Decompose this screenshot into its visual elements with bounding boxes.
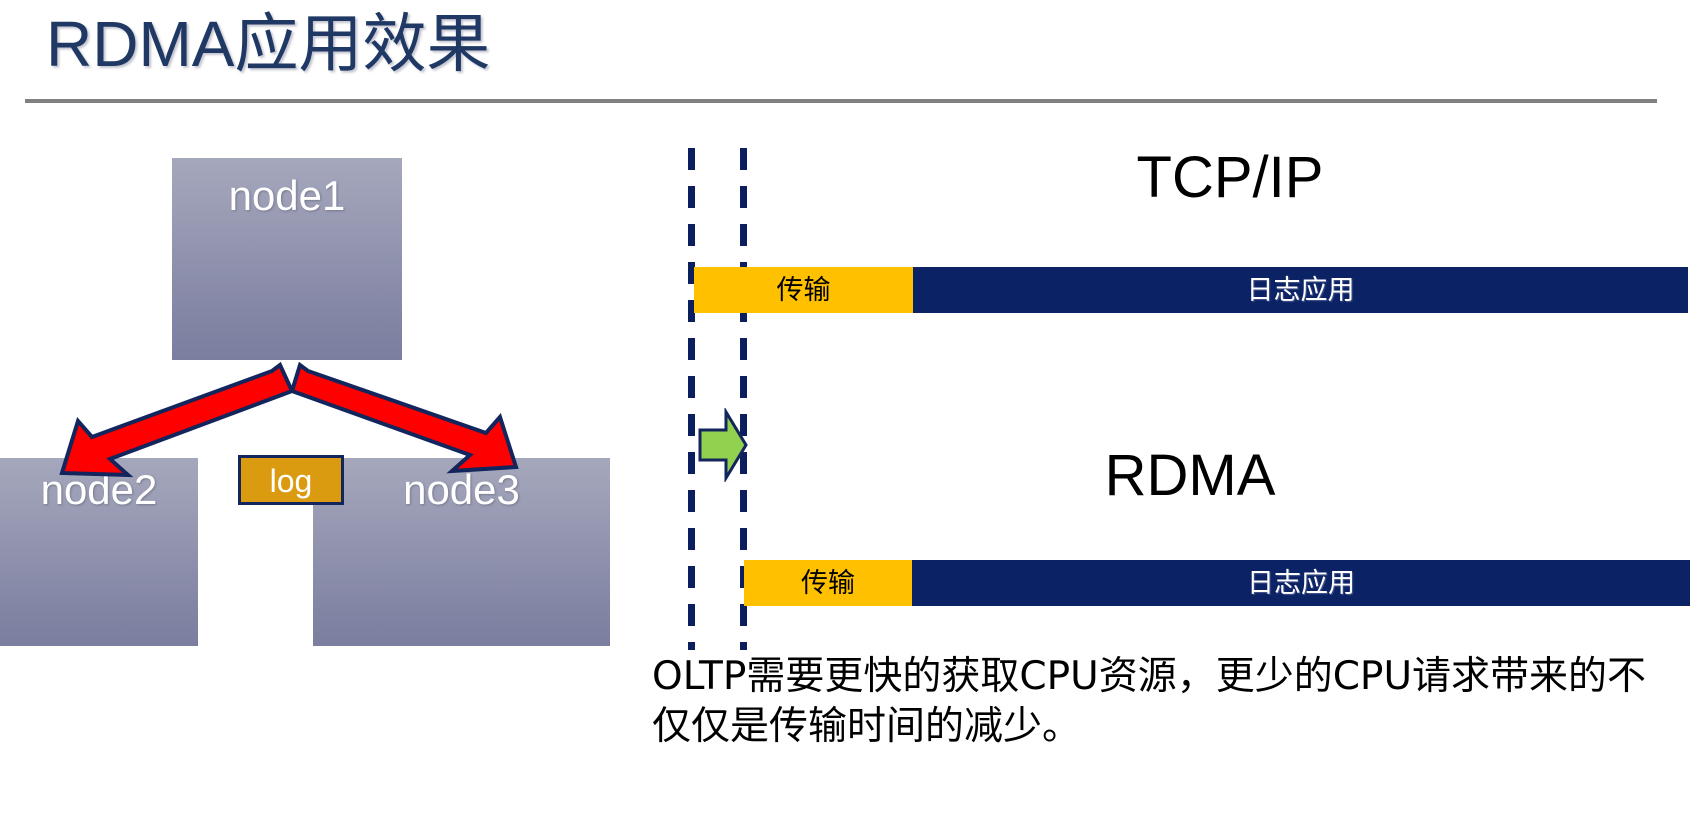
node1-box: node1	[172, 158, 402, 360]
rdma-transfer-segment: 传输	[744, 560, 912, 606]
page-title: RDMA应用效果	[46, 4, 490, 84]
title-divider	[25, 99, 1657, 103]
label-tcpip: TCP/IP	[930, 146, 1530, 210]
improvement-arrow-icon	[696, 408, 748, 482]
rdma-apply-segment: 日志应用	[912, 560, 1690, 606]
timeline-guide-line-start	[688, 148, 695, 650]
timeline-bar-rdma: 传输 日志应用	[744, 560, 1690, 606]
tcpip-apply-segment: 日志应用	[913, 267, 1688, 313]
log-label: log	[241, 460, 341, 502]
node3-box: node3	[313, 458, 610, 646]
log-box: log	[238, 455, 344, 505]
timeline-bar-tcpip: 传输 日志应用	[694, 267, 1688, 313]
node2-box: node2	[0, 458, 198, 646]
tcpip-transfer-segment: 传输	[694, 267, 913, 313]
caption-text: OLTP需要更快的获取CPU资源，更少的CPU请求带来的不仅仅是传输时间的减少。	[652, 652, 1682, 752]
slide-canvas: RDMA应用效果 node1 node2 node3 log TCP/IP 传输…	[0, 0, 1696, 826]
node1-label: node1	[172, 172, 402, 220]
label-rdma: RDMA	[880, 444, 1500, 508]
